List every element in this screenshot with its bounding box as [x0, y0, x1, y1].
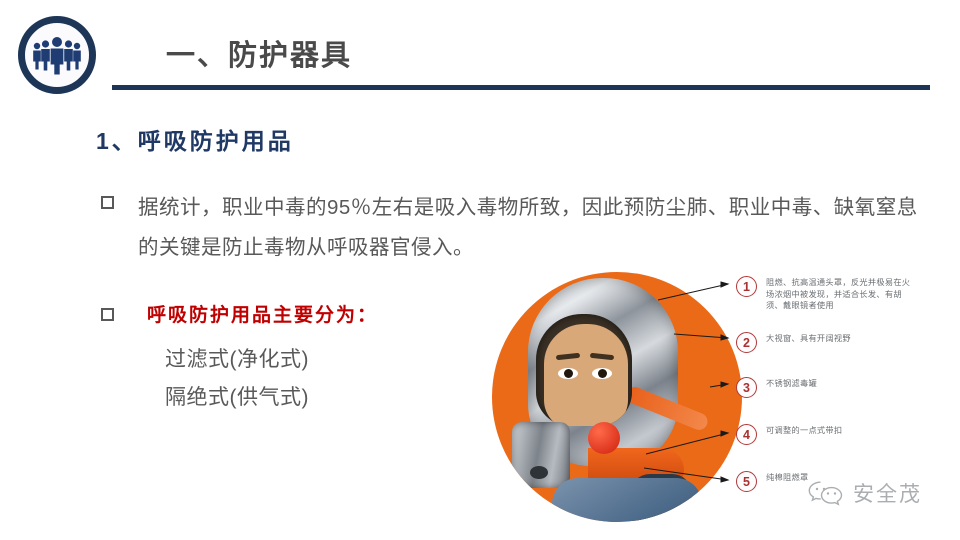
- brow-right: [590, 353, 614, 360]
- annotation-item: 1 阻燃、抗高温通头罩，反光并极易在火场浓烟中被发现，并适合长发、有胡须、戴眼镜…: [736, 276, 916, 312]
- brow-left: [556, 353, 580, 360]
- red-heading: 呼吸防护用品主要分为：: [147, 300, 378, 327]
- orange-circle-backdrop: [492, 272, 742, 522]
- annotation-text: 可调整的一点式带扣: [766, 424, 916, 437]
- people-group-icon: [18, 16, 96, 94]
- square-bullet-icon: [101, 196, 114, 209]
- red-heading-bullet-row: 呼吸防护用品主要分为：: [101, 300, 378, 327]
- filter-canister-shape: [512, 422, 570, 488]
- annotation-number: 2: [736, 332, 757, 353]
- wechat-bubble-icon: [806, 479, 846, 507]
- section-heading: 1、呼吸防护用品: [96, 122, 294, 156]
- annotation-item: 4 可调整的一点式带扣: [736, 424, 916, 445]
- annotation-item: 2 大视窗、具有开阔视野: [736, 332, 916, 353]
- visor-shape: [536, 314, 632, 426]
- eye-right: [592, 368, 612, 379]
- watermark-text: 安全茂: [853, 478, 922, 508]
- exhale-valve-shape: [588, 422, 620, 454]
- header-divider: [112, 85, 930, 90]
- annotation-number: 4: [736, 424, 757, 445]
- fire-escape-hood-photo: [492, 272, 754, 534]
- eye-left: [558, 368, 578, 379]
- annotation-text: 阻燃、抗高温通头罩，反光并极易在火场浓烟中被发现，并适合长发、有胡须、戴眼镜者使…: [766, 276, 916, 312]
- watermark: 安全茂: [806, 478, 922, 508]
- shoulder-shape: [552, 478, 702, 522]
- square-bullet-icon: [101, 308, 114, 321]
- slide-header: 一、防护器具: [0, 0, 960, 100]
- face-shape: [544, 324, 628, 426]
- page-title: 一、防护器具: [166, 32, 352, 74]
- body-paragraph: 据统计，职业中毒的95％左右是吸入毒物所致，因此预防尘肺、职业中毒、缺氧窒息的关…: [138, 188, 931, 268]
- list-item: 过滤式(净化式): [165, 343, 309, 373]
- annotation-text: 大视窗、具有开阔视野: [766, 332, 916, 345]
- list-item: 隔绝式(供气式): [165, 381, 309, 411]
- annotation-number: 5: [736, 471, 757, 492]
- annotation-item: 3 不锈钢滤毒罐: [736, 377, 916, 398]
- annotation-text: 不锈钢滤毒罐: [766, 377, 916, 390]
- paragraph-bullet-row: 据统计，职业中毒的95％左右是吸入毒物所致，因此预防尘肺、职业中毒、缺氧窒息的关…: [101, 188, 931, 268]
- annotation-number: 1: [736, 276, 757, 297]
- annotation-number: 3: [736, 377, 757, 398]
